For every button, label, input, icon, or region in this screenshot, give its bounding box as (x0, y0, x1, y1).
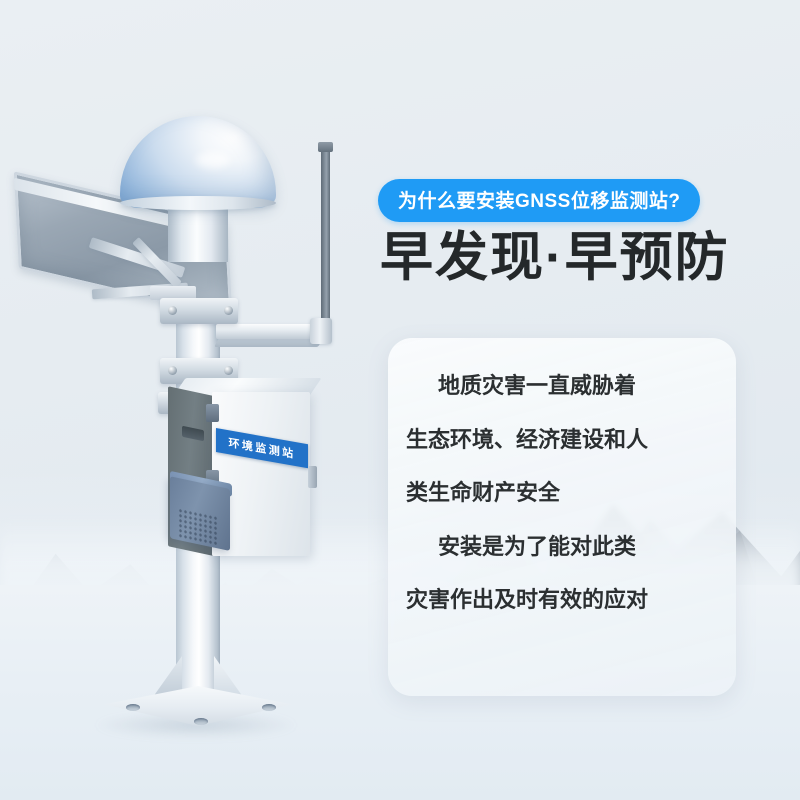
antenna-neck (168, 202, 228, 262)
base-bolt-hole-left (126, 704, 140, 711)
dome-base-rim (120, 196, 276, 210)
question-badge-text: 为什么要安装GNSS位移监测站? (398, 191, 680, 212)
enclosure-latch (308, 466, 317, 488)
description-line-1: 地质灾害一直威胁着 (406, 372, 710, 400)
description-line-4: 安装是为了能对此类 (406, 533, 710, 561)
description-line-2: 生态环境、经济建设和人 (406, 426, 710, 454)
clamp-bolt-4 (224, 366, 233, 375)
clamp-bolt-3 (168, 366, 177, 375)
enclosure-hinge-top (206, 404, 219, 422)
question-badge: 为什么要安装GNSS位移监测站? (378, 179, 700, 222)
description-card: 地质灾害一直威胁着 生态环境、经济建设和人 类生命财产安全 安装是为了能对此类 … (388, 338, 736, 696)
clamp-bolt-2 (224, 306, 233, 315)
description-line-3: 类生命财产安全 (406, 479, 710, 507)
dome-specular-highlight (196, 152, 230, 168)
monitoring-station-illustration: 环境监测站 (0, 0, 400, 800)
base-bolt-hole-front (194, 718, 208, 725)
description-line-5: 灾害作出及时有效的应对 (406, 586, 710, 614)
whip-antenna-clamp (310, 318, 332, 344)
page-title: 早发现·早预防 (380, 228, 730, 287)
base-bolt-hole-right (262, 704, 276, 711)
clamp-bolt-1 (168, 306, 177, 315)
whip-antenna (321, 146, 330, 332)
whip-antenna-cap (318, 142, 333, 152)
product-poster: 环境监测站 为什么要安装GNSS位移监测站? 早发现·早预防 地质灾害一直威胁着… (0, 0, 800, 800)
